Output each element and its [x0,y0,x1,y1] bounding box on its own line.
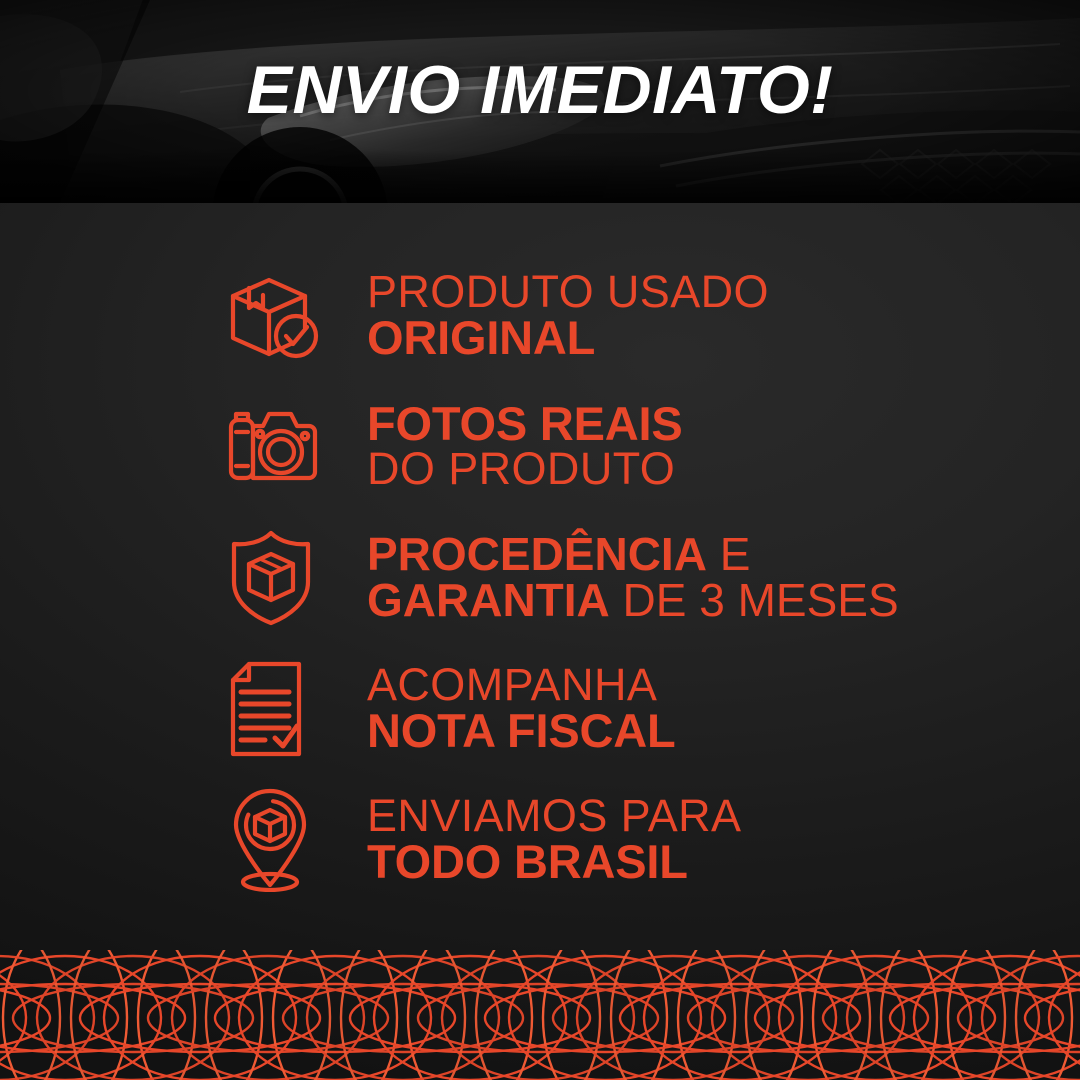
feature-row: PRODUTO USADO ORIGINAL [225,250,1055,381]
feature-text: ACOMPANHA NOTA FISCAL [367,663,676,754]
feature-list: PRODUTO USADO ORIGINAL [225,250,1055,905]
feature-row: PROCEDÊNCIA E GARANTIA DE 3 MESES [225,512,1055,643]
shield-box-icon [225,526,337,630]
feature-line-1-light: E [707,528,750,580]
feature-line-1: ENVIAMOS PARA [367,794,741,839]
camera-icon [225,395,337,499]
feature-text: FOTOS REAIS DO PRODUTO [367,401,683,492]
feature-line-2: DO PRODUTO [367,447,683,492]
feature-line-2: NOTA FISCAL [367,708,676,755]
hero-section: ENVIO IMEDIATO! [0,0,1080,203]
feature-line-2: TODO BRASIL [367,839,741,886]
feature-line-1: FOTOS REAIS [367,401,683,448]
feature-text: PRODUTO USADO ORIGINAL [367,270,769,361]
hero-title: ENVIO IMEDIATO! [0,56,1080,124]
feature-line-1: PROCEDÊNCIA E [367,532,899,578]
feature-line-2: ORIGINAL [367,315,769,362]
promo-banner: ENVIO IMEDIATO! PRODUTO USADO [0,0,1080,1080]
feature-row: FOTOS REAIS DO PRODUTO [225,381,1055,512]
feature-line-2-light: DE 3 MESES [610,574,899,626]
feature-line-1: ACOMPANHA [367,663,676,708]
invoice-document-icon [225,657,337,761]
feature-row: ENVIAMOS PARA TODO BRASIL [225,774,1055,905]
feature-line-1: PRODUTO USADO [367,270,769,315]
footer-decorative-pattern [0,950,1080,1080]
map-pin-box-icon [225,788,337,892]
feature-text: ENVIAMOS PARA TODO BRASIL [367,794,741,885]
feature-line-2: GARANTIA DE 3 MESES [367,578,899,624]
feature-row: ACOMPANHA NOTA FISCAL [225,643,1055,774]
box-check-icon [225,264,337,368]
feature-line-2-bold: GARANTIA [367,574,610,626]
feature-line-1-bold: PROCEDÊNCIA [367,528,707,580]
feature-text: PROCEDÊNCIA E GARANTIA DE 3 MESES [367,532,899,623]
